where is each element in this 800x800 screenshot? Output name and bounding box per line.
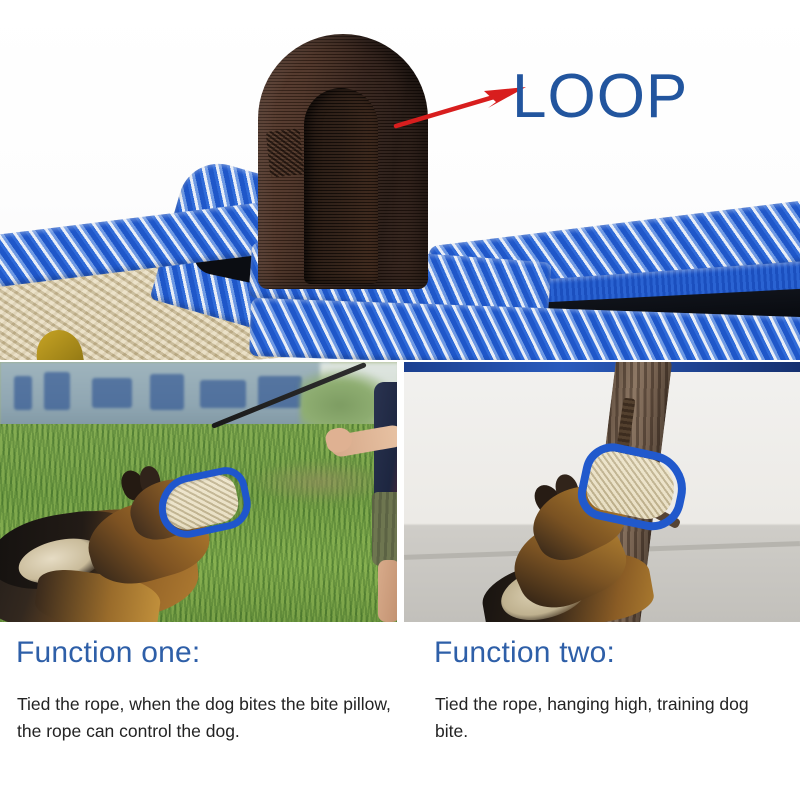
handler-shorts: [372, 492, 397, 566]
graffiti-mark: [44, 372, 70, 410]
graffiti-mark: [92, 378, 132, 408]
function-one-column: Function one: Tied the rope, when the do…: [16, 622, 408, 744]
function-two-column: Function two: Tied the rope, hanging hig…: [434, 622, 786, 744]
handler-leg: [378, 560, 397, 622]
graffiti-mark: [200, 380, 246, 408]
dirt-patch: [250, 460, 390, 504]
function-two-heading: Function two:: [434, 636, 786, 669]
callout-arrow-icon: [392, 78, 527, 140]
loop-inner-face: [304, 88, 378, 284]
wall-top-band: [404, 362, 800, 372]
hero-product-photo: LOOP: [0, 0, 800, 360]
brown-loop-handle: [258, 34, 438, 296]
loop-stitching: [266, 128, 305, 177]
infographic-page: LOOP: [0, 0, 800, 800]
usage-photo-row: [0, 362, 800, 622]
photo-dog-bite-rope-control: [0, 362, 397, 622]
loop-callout-label: LOOP: [512, 66, 688, 128]
function-one-heading: Function one:: [16, 636, 408, 669]
function-two-body: Tied the rope, hanging high, training do…: [435, 691, 786, 744]
function-text-area: Function one: Tied the rope, when the do…: [0, 622, 800, 800]
graffiti-mark: [14, 376, 32, 410]
function-one-body: Tied the rope, when the dog bites the bi…: [17, 691, 408, 744]
graffiti-mark: [150, 374, 184, 410]
photo-dog-bite-hanging-tree: [404, 362, 800, 622]
